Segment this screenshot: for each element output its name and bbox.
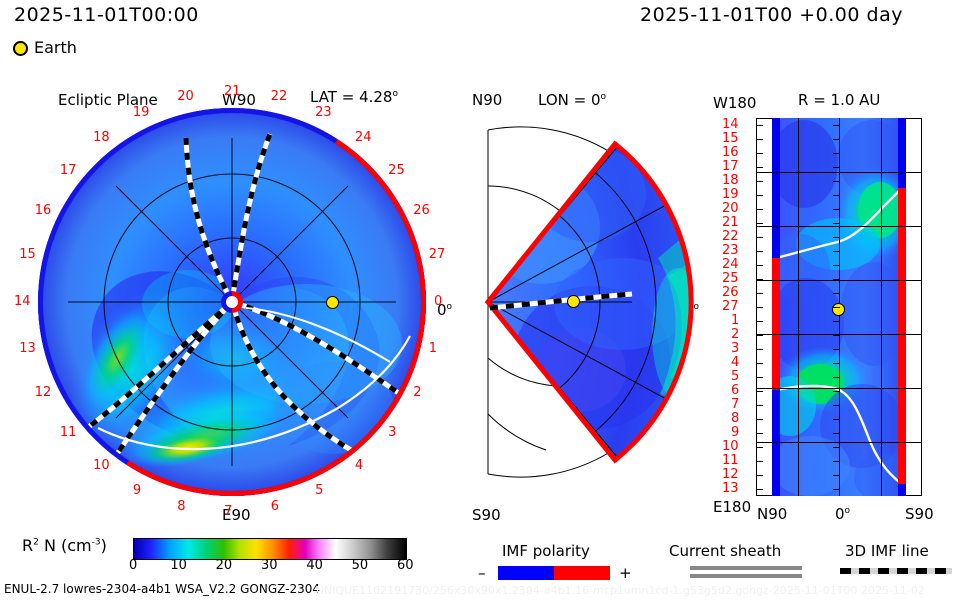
map-center-tick: [833, 279, 840, 280]
map-y-axis-tick: [757, 307, 763, 308]
map-y-axis-tick: [757, 265, 763, 266]
ecliptic-hour-label: 16: [35, 204, 52, 217]
meridional-plane-chart: [472, 108, 694, 496]
meridional-panel-title: LON = 0o: [538, 93, 606, 108]
imf-3d-line-swatch: [840, 568, 952, 574]
map-y-axis-label: 16: [722, 146, 739, 159]
map-y-axis-label: 10: [722, 440, 739, 453]
map-y-axis-tick: [757, 461, 763, 462]
map-center-tick: [833, 475, 840, 476]
map-y-axis-label: 9: [731, 426, 739, 439]
map-y-axis-label: 19: [722, 188, 739, 201]
current-sheath-swatch-bottom: [690, 574, 802, 578]
map-top-left-label: W180: [713, 96, 756, 111]
ecliptic-plane-chart: [38, 108, 426, 496]
ecliptic-hour-label: 3: [388, 426, 396, 439]
colorbar-tick-label: 30: [261, 559, 278, 572]
map-bottom-left-label: E180: [713, 500, 751, 515]
map-y-axis-tick: [757, 391, 763, 392]
map-y-axis-label: 5: [731, 370, 739, 383]
map-y-axis-tick: [757, 475, 763, 476]
ecliptic-hour-label: 11: [60, 426, 77, 439]
ecliptic-hour-label: 25: [388, 164, 405, 177]
ecliptic-hour-label: 21: [224, 85, 241, 98]
map-center-tick: [833, 461, 840, 462]
ecliptic-hour-label: 10: [93, 459, 110, 472]
map-y-axis-tick: [757, 167, 763, 168]
map-y-axis-label: 26: [722, 286, 739, 299]
map-center-tick: [833, 153, 840, 154]
map-vertical-gridline: [798, 118, 799, 496]
ecliptic-hour-label: 12: [35, 386, 52, 399]
colorbar-tick-label: 10: [170, 559, 187, 572]
map-center-tick: [833, 125, 840, 126]
ecliptic-hour-label: 9: [133, 484, 141, 497]
map-left-polarity-positive: [772, 258, 780, 390]
map-y-axis-label: 6: [731, 384, 739, 397]
current-sheath-title: Current sheath: [669, 544, 781, 559]
current-sheath-swatch-top: [690, 566, 802, 570]
earth-marker-icon: [13, 41, 28, 56]
map-center-tick: [833, 307, 840, 308]
map-center-tick: [833, 167, 840, 168]
map-y-axis-tick: [757, 125, 763, 126]
map-y-axis-label: 20: [722, 202, 739, 215]
map-center-tick: [833, 419, 840, 420]
map-y-axis-tick: [757, 237, 763, 238]
map-y-axis-label: 23: [722, 244, 739, 257]
map-left-polarity-negative-upper: [772, 118, 780, 258]
map-y-axis-tick: [757, 321, 763, 322]
meridional-density-svg: [472, 108, 694, 496]
ecliptic-hour-label: 24: [355, 131, 372, 144]
map-center-tick: [833, 223, 840, 224]
sun-marker-icon: [221, 291, 243, 313]
map-y-axis-tick: [757, 489, 763, 490]
map-x-label-s90: S90: [905, 507, 934, 522]
map-y-axis-tick: [757, 251, 763, 252]
ecliptic-hour-label: 17: [60, 164, 77, 177]
map-y-axis-tick: [757, 447, 763, 448]
map-center-tick: [833, 265, 840, 266]
ecliptic-hour-label: 14: [14, 295, 31, 308]
map-center-tick: [833, 209, 840, 210]
colorbar-tick-label: 20: [216, 559, 233, 572]
map-y-axis-label: 17: [722, 160, 739, 173]
map-y-axis-tick: [757, 419, 763, 420]
colorbar-tick-label: 60: [397, 559, 414, 572]
map-center-tick: [833, 251, 840, 252]
map-y-axis-label: 8: [731, 412, 739, 425]
ecliptic-hour-label: 5: [315, 484, 323, 497]
imf-3d-line-title: 3D IMF line: [845, 544, 929, 559]
ecliptic-hour-label: 23: [315, 106, 332, 119]
map-center-tick: [833, 363, 840, 364]
ecliptic-hour-label: 15: [19, 248, 36, 261]
ecliptic-hour-label: 7: [224, 505, 232, 518]
map-y-axis-tick: [757, 139, 763, 140]
ecliptic-hour-label: 27: [429, 248, 446, 261]
map-center-tick: [833, 377, 840, 378]
map-y-axis-tick: [757, 279, 763, 280]
map-y-axis-tick: [757, 195, 763, 196]
ecliptic-hour-label: 13: [19, 342, 36, 355]
imf-polarity-minus: –: [478, 566, 486, 581]
map-y-axis-label: 15: [722, 132, 739, 145]
map-panel-title: R = 1.0 AU: [798, 93, 880, 108]
map-y-axis-label: 18: [722, 174, 739, 187]
map-right-polarity-negative-lower: [898, 484, 906, 496]
imf-polarity-plus: +: [619, 566, 632, 581]
ecliptic-hour-label: 0: [434, 295, 442, 308]
map-y-axis-tick: [757, 153, 763, 154]
map-y-axis-label: 3: [731, 342, 739, 355]
map-center-tick: [833, 139, 840, 140]
map-y-axis-tick: [757, 209, 763, 210]
ecliptic-hour-label: 19: [133, 106, 150, 119]
map-center-tick: [833, 433, 840, 434]
watermark-text: UNIQUE1102191730/256x30x90x1.2304-a4b1.1…: [316, 584, 925, 597]
ecliptic-lat-label: LAT = 4.28o: [310, 90, 398, 105]
map-y-axis-tick: [757, 363, 763, 364]
colorbar-tick-label: 0: [129, 559, 137, 572]
earth-position-marker-meridional: [567, 295, 580, 308]
map-right-polarity-negative-upper: [898, 118, 906, 188]
timestamp-label: 2025-11-01T00:00: [14, 6, 199, 25]
forecast-label: 2025-11-01T00 +0.00 day: [640, 6, 903, 25]
ecliptic-hour-label: 6: [271, 500, 279, 513]
map-y-axis-tick: [757, 377, 763, 378]
earth-legend-label: Earth: [34, 40, 77, 56]
ecliptic-hour-label: 2: [413, 386, 421, 399]
map-vertical-gridline: [881, 118, 882, 496]
colorbar-label: R2 N (cm-3): [22, 538, 107, 554]
map-center-tick: [833, 181, 840, 182]
map-center-tick: [833, 335, 840, 336]
map-x-label-zero: 0o: [835, 507, 850, 522]
map-center-tick: [833, 195, 840, 196]
map-y-axis-label: 24: [722, 258, 739, 271]
map-center-tick: [833, 237, 840, 238]
ecliptic-hour-label: 18: [93, 131, 110, 144]
map-center-tick: [833, 321, 840, 322]
map-y-axis-label: 25: [722, 272, 739, 285]
map-center-tick: [833, 447, 840, 448]
map-center-tick: [833, 391, 840, 392]
map-y-axis-label: 2: [731, 328, 739, 341]
ecliptic-hour-label: 20: [177, 90, 194, 103]
map-y-axis-label: 22: [722, 230, 739, 243]
meridional-south-label: S90: [472, 508, 501, 523]
map-left-polarity-negative-lower: [772, 390, 780, 496]
earth-position-marker: [326, 296, 339, 309]
map-y-axis-tick: [757, 293, 763, 294]
imf-polarity-bar: [498, 566, 610, 580]
map-y-axis-label: 12: [722, 468, 739, 481]
map-center-tick: [833, 349, 840, 350]
map-right-polarity-positive: [898, 188, 906, 484]
ecliptic-hour-label: 22: [271, 90, 288, 103]
map-y-axis-tick: [757, 349, 763, 350]
map-x-label-n90: N90: [757, 507, 787, 522]
map-y-axis-label: 7: [731, 398, 739, 411]
map-center-tick: [833, 489, 840, 490]
earth-position-marker-map: [832, 303, 845, 316]
colorbar-tick-label: 40: [306, 559, 323, 572]
map-y-axis-label: 21: [722, 216, 739, 229]
map-y-axis-label: 14: [722, 118, 739, 131]
map-y-axis-label: 4: [731, 356, 739, 369]
ecliptic-hour-label: 1: [429, 342, 437, 355]
map-y-axis-label: 11: [722, 454, 739, 467]
map-center-tick: [833, 405, 840, 406]
map-y-axis-tick: [757, 181, 763, 182]
ecliptic-hour-label: 4: [355, 459, 363, 472]
map-y-axis-tick: [757, 335, 763, 336]
map-y-axis-label: 1: [731, 314, 739, 327]
map-y-axis-tick: [757, 433, 763, 434]
map-y-axis-tick: [757, 223, 763, 224]
imf-polarity-title: IMF polarity: [502, 544, 590, 559]
ecliptic-hour-label: 26: [413, 204, 430, 217]
map-center-tick: [833, 293, 840, 294]
meridional-north-label: N90: [472, 93, 502, 108]
map-y-axis-label: 13: [722, 482, 739, 495]
ecliptic-hour-label: 8: [177, 500, 185, 513]
map-y-axis-label: 27: [722, 300, 739, 313]
model-footer: ENUL-2.7 lowres-2304-a4b1 WSA_V2.2 GONGZ…: [4, 583, 320, 595]
colorbar-tick-label: 50: [352, 559, 369, 572]
map-y-axis-tick: [757, 405, 763, 406]
colorbar-gradient: [133, 538, 407, 560]
